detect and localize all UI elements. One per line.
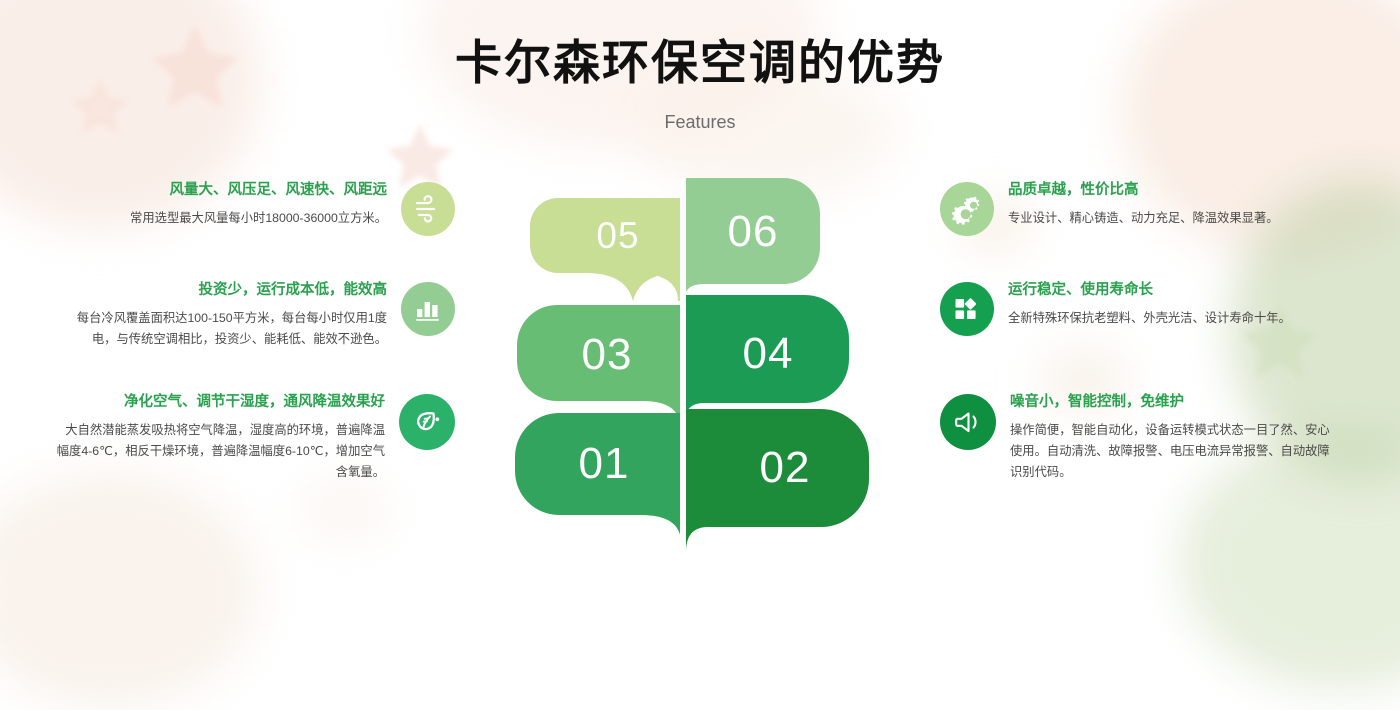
wind-icon (401, 182, 455, 236)
page-subtitle: Features (0, 112, 1400, 133)
leaf-01-number: 01 (579, 439, 630, 488)
leaf-03[interactable]: 03 (517, 305, 680, 427)
leaf-03-number: 03 (582, 330, 633, 379)
feature-text: 运行稳定、使用寿命长 全新特殊环保抗老塑料、外壳光洁、设计寿命十年。 (994, 280, 1340, 336)
feature-item-stability[interactable]: 运行稳定、使用寿命长 全新特殊环保抗老塑料、外壳光洁、设计寿命十年。 (940, 280, 1340, 336)
leaf-06[interactable]: 06 (683, 178, 820, 304)
feature-item-wind[interactable]: 风量大、风压足、风速快、风距远 常用选型最大风量每小时18000-36000立方… (55, 180, 455, 236)
leaf-04[interactable]: 04 (684, 295, 849, 425)
feature-title: 风量大、风压足、风速快、风距远 (55, 180, 387, 202)
leaf-04-number: 04 (743, 329, 794, 378)
feature-body: 全新特殊环保抗老塑料、外壳光洁、设计寿命十年。 (1008, 308, 1340, 329)
feature-text: 品质卓越，性价比高 专业设计、精心铸造、动力充足、降温效果显著。 (994, 180, 1340, 236)
infographic-stage: 卡尔森环保空调的优势 Features 风量大、风压足、风速快、风距远 常用选型… (0, 0, 1400, 644)
feature-title: 投资少，运行成本低，能效高 (55, 280, 387, 302)
blocks-icon (940, 282, 994, 336)
bar-chart-icon (401, 282, 455, 336)
leaf-02-number: 02 (760, 443, 811, 492)
feature-body: 专业设计、精心铸造、动力充足、降温效果显著。 (1008, 208, 1340, 229)
feature-item-quality[interactable]: 品质卓越，性价比高 专业设计、精心铸造、动力充足、降温效果显著。 (940, 180, 1340, 236)
leaf-05-number: 05 (596, 215, 639, 256)
feature-item-low-noise[interactable]: 噪音小，智能控制，免维护 操作简便，智能自动化，设备运转模式状态一目了然、安心使… (940, 392, 1340, 483)
leaf-05[interactable]: 05 (530, 198, 680, 301)
feature-item-air-purify[interactable]: 净化空气、调节干湿度，通风降温效果好 大自然潜能蒸发吸热将空气降温，湿度高的环境… (55, 392, 455, 483)
feature-body: 常用选型最大风量每小时18000-36000立方米。 (55, 208, 387, 229)
leaf-06-number: 06 (728, 207, 779, 256)
feature-text: 风量大、风压足、风速快、风距远 常用选型最大风量每小时18000-36000立方… (55, 180, 401, 236)
feature-text: 投资少，运行成本低，能效高 每台冷风覆盖面积达100-150平方米，每台每小时仅… (55, 280, 401, 350)
page-title: 卡尔森环保空调的优势 (0, 36, 1400, 90)
gears-icon (940, 182, 994, 236)
leaf-01[interactable]: 01 (515, 413, 681, 543)
header: 卡尔森环保空调的优势 Features (0, 0, 1400, 133)
eco-leaf-icon (399, 394, 455, 450)
feature-item-efficiency[interactable]: 投资少，运行成本低，能效高 每台冷风覆盖面积达100-150平方米，每台每小时仅… (55, 280, 455, 350)
leaf-02[interactable]: 02 (686, 409, 869, 552)
speaker-icon (940, 394, 996, 450)
feature-text: 净化空气、调节干湿度，通风降温效果好 大自然潜能蒸发吸热将空气降温，湿度高的环境… (55, 392, 399, 483)
feature-body: 大自然潜能蒸发吸热将空气降温，湿度高的环境，普遍降温幅度4-6℃，相反干燥环境，… (55, 420, 385, 483)
leaf-cluster: 05 06 03 04 01 (500, 170, 920, 570)
feature-text: 噪音小，智能控制，免维护 操作简便，智能自动化，设备运转模式状态一目了然、安心使… (996, 392, 1340, 483)
feature-title: 噪音小，智能控制，免维护 (1010, 392, 1340, 414)
leaf-stem (680, 178, 686, 568)
feature-title: 净化空气、调节干湿度，通风降温效果好 (55, 392, 385, 414)
feature-body: 操作简便，智能自动化，设备运转模式状态一目了然、安心使用。自动清洗、故障报警、电… (1010, 420, 1340, 483)
feature-title: 品质卓越，性价比高 (1008, 180, 1340, 202)
feature-title: 运行稳定、使用寿命长 (1008, 280, 1340, 302)
feature-body: 每台冷风覆盖面积达100-150平方米，每台每小时仅用1度电，与传统空调相比，投… (55, 308, 387, 350)
